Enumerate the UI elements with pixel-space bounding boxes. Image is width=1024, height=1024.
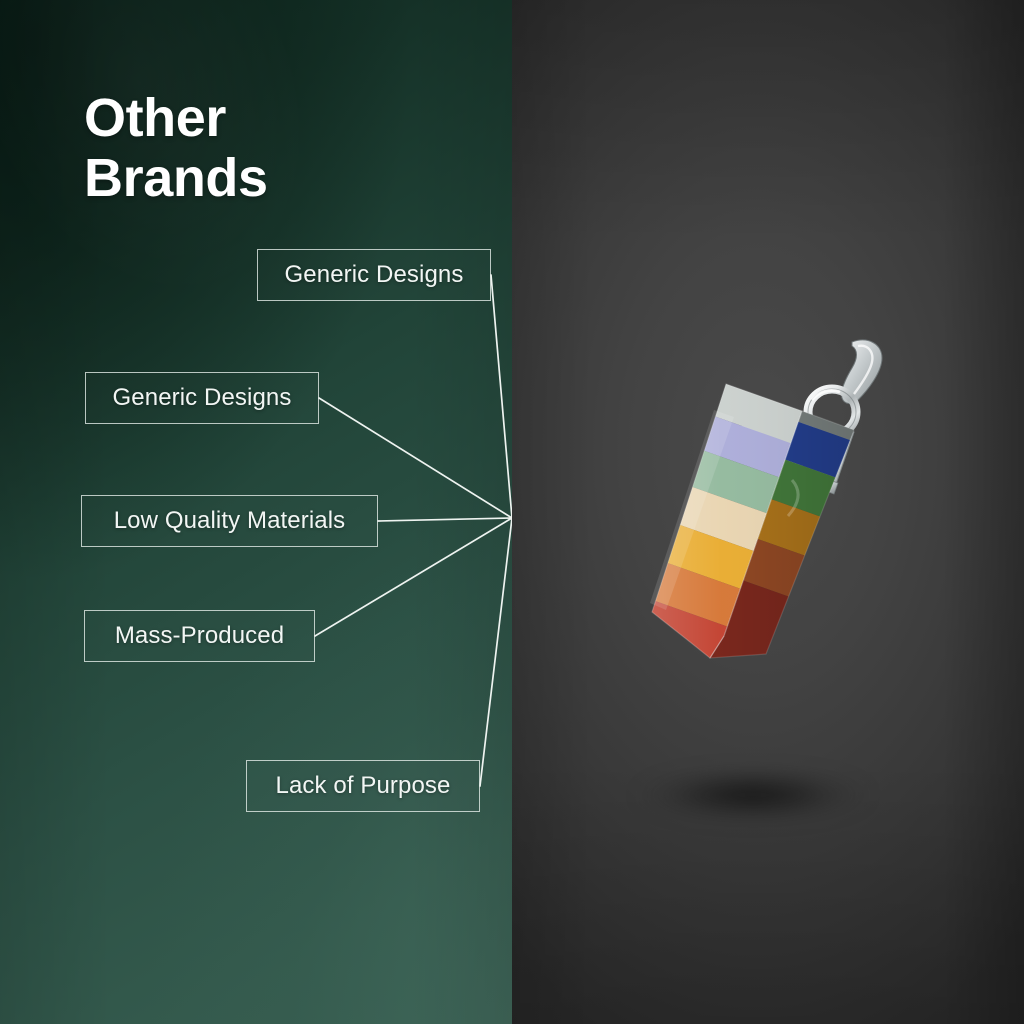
- connector-line-lack-of-purpose: [480, 518, 512, 786]
- seven-chakra-gemstone-pendant: [598, 320, 928, 720]
- label-text: Low Quality Materials: [114, 507, 346, 535]
- label-text: Mass-Produced: [115, 622, 284, 650]
- comparison-graphic: Other Brands Generic DesignsGeneric Desi…: [0, 0, 1024, 1024]
- label-text: Generic Designs: [113, 384, 292, 412]
- crystal-front-facet: [598, 320, 928, 720]
- label-text: Lack of Purpose: [276, 772, 451, 800]
- label-box-low-quality-materials: Low Quality Materials: [81, 495, 378, 547]
- connector-line-generic-designs-top: [491, 275, 512, 518]
- label-box-lack-of-purpose: Lack of Purpose: [246, 760, 480, 812]
- crystal-side-facet: [606, 320, 928, 720]
- product-drop-shadow: [634, 768, 872, 822]
- label-box-mass-produced: Mass-Produced: [84, 610, 315, 662]
- connector-line-low-quality-materials: [378, 518, 512, 521]
- label-text: Generic Designs: [285, 261, 464, 289]
- label-box-generic-designs-top: Generic Designs: [257, 249, 491, 301]
- label-box-generic-designs-second: Generic Designs: [85, 372, 319, 424]
